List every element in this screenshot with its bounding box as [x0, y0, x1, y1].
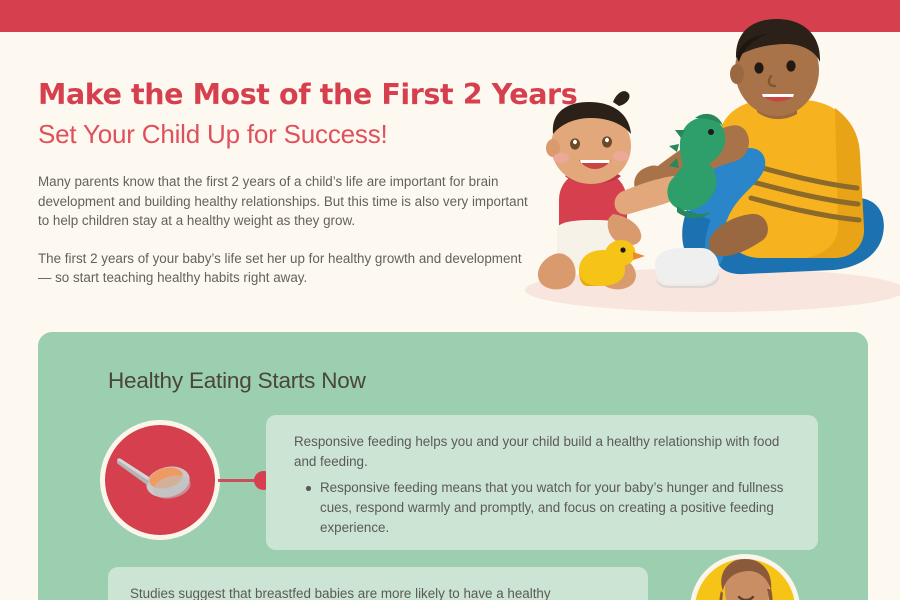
header-block: Make the Most of the First 2 Years Set Y… — [38, 78, 538, 288]
intro-paragraph-2: The first 2 years of your baby’s life se… — [38, 249, 530, 288]
responsive-feeding-card: Responsive feeding helps you and your ch… — [266, 415, 818, 550]
card-1-intro: Responsive feeding helps you and your ch… — [294, 432, 796, 472]
page-subtitle: Set Your Child Up for Success! — [38, 118, 538, 150]
bullet-dot-icon — [306, 486, 311, 491]
card-1-bullet-text: Responsive feeding means that you watch … — [320, 480, 784, 535]
card-1-bullet-list: Responsive feeding means that you watch … — [294, 478, 796, 538]
father-and-baby-illustration — [505, 18, 900, 318]
card-1-bullet-item: Responsive feeding means that you watch … — [320, 478, 796, 538]
spoon-icon — [100, 420, 220, 540]
breastfeeding-card: Studies suggest that breastfed babies ar… — [108, 567, 648, 600]
intro-paragraph-1: Many parents know that the first 2 years… — [38, 172, 530, 231]
page-title: Make the Most of the First 2 Years — [38, 78, 538, 112]
breastfeeding-icon — [690, 554, 800, 600]
infographic-page: Make the Most of the First 2 Years Set Y… — [0, 0, 900, 600]
card-2-intro: Studies suggest that breastfed babies ar… — [130, 584, 626, 600]
healthy-eating-panel: Healthy Eating Starts Now Responsive fee… — [38, 332, 868, 600]
section-title: Healthy Eating Starts Now — [108, 368, 366, 394]
intro-text: Many parents know that the first 2 years… — [38, 172, 530, 288]
